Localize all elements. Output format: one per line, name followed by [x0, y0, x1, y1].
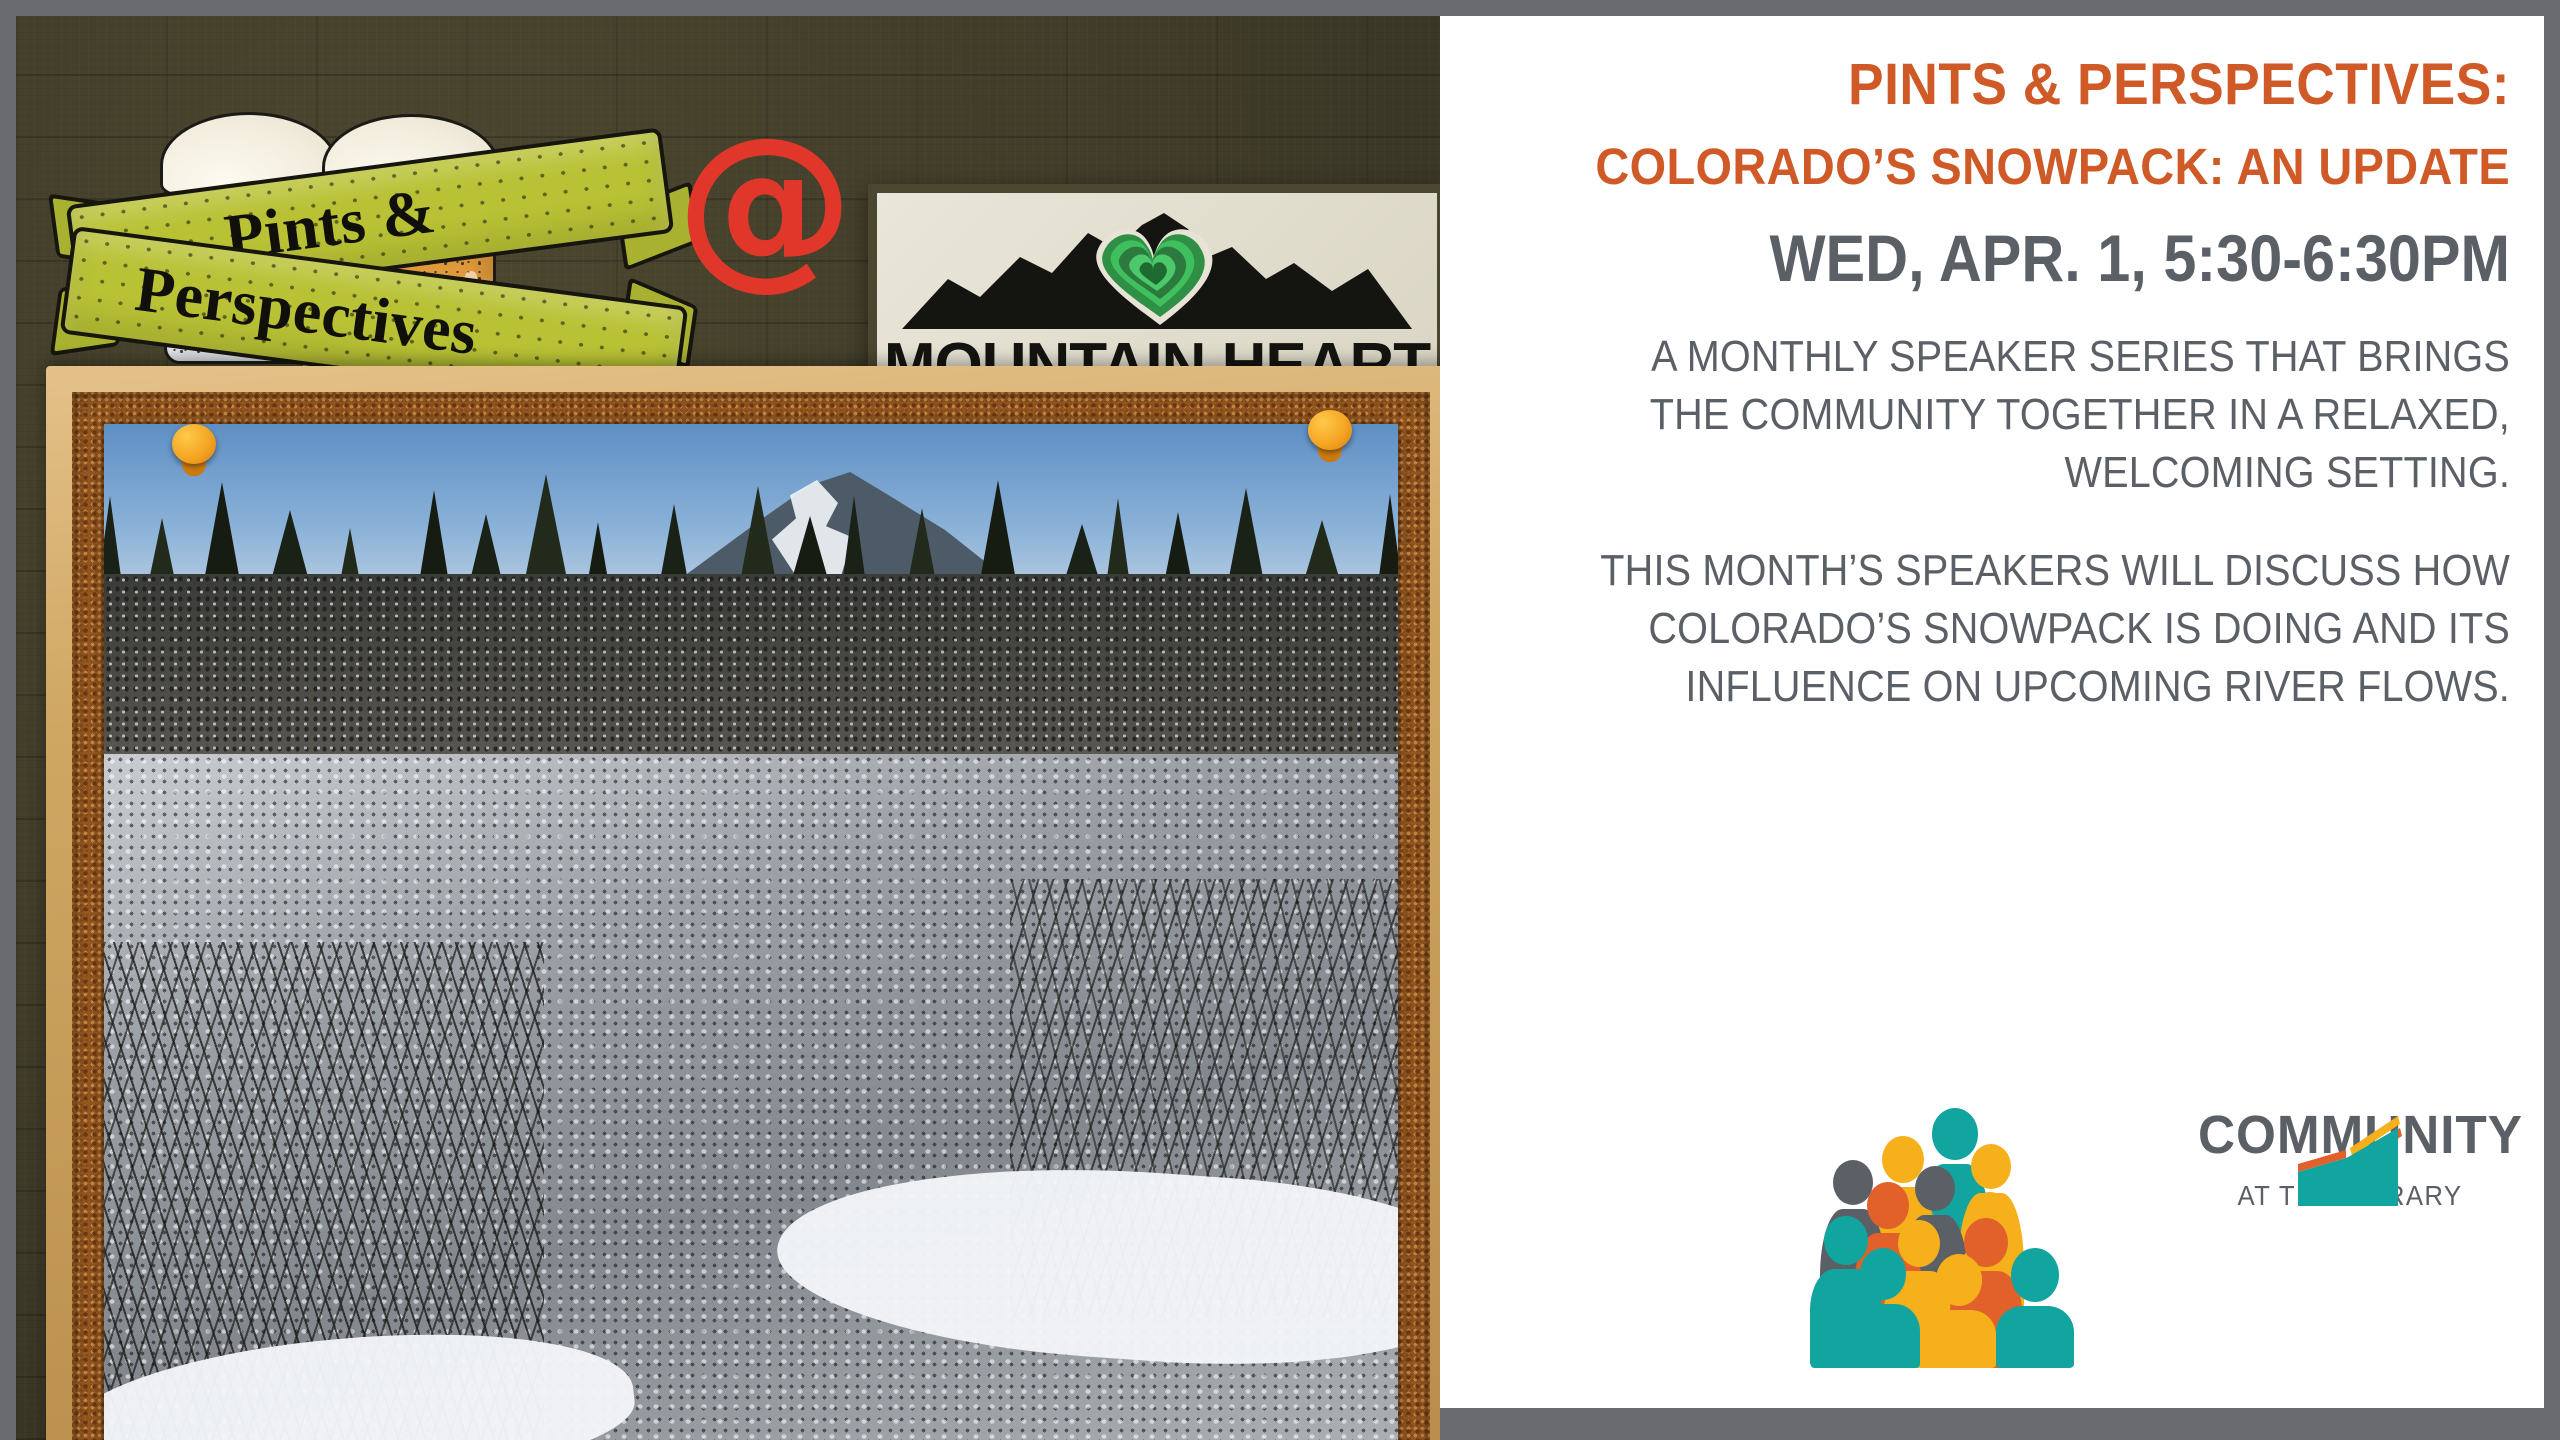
person-icon: [1846, 1248, 1920, 1368]
pushpin-icon: [1308, 410, 1352, 462]
event-description-1: A MONTHLY SPEAKER SERIES THAT BRINGS THE…: [1583, 328, 2510, 502]
event-poster: Pints & Perspectives @: [0, 0, 2560, 1440]
snowy-creek-photo: []: [104, 424, 1398, 1440]
library-logo-text: COMMUNITY AT THE LIBRARY: [2190, 1104, 2510, 1212]
event-details-panel: PINTS & PERSPECTIVES: COLORADO’S SNOWPAC…: [1440, 16, 2544, 1408]
event-datetime: WED, APR. 1, 5:30-6:30PM: [1583, 222, 2510, 294]
mountain-heart-logo-icon: [902, 205, 1412, 329]
corkboard-frame: []: [46, 366, 1440, 1440]
pints-and-perspectives-logo: Pints & Perspectives: [64, 74, 674, 364]
corkboard-surface: []: [72, 392, 1430, 1440]
open-book-icon: [2294, 1106, 2404, 1210]
community-at-the-library-logo: COMMUNITY AT THE LIBRARY: [1810, 1098, 2510, 1368]
left-image-panel: Pints & Perspectives @: [16, 16, 1440, 1440]
at-symbol-icon: @: [676, 128, 836, 288]
person-icon: [1996, 1248, 2074, 1368]
event-title: PINTS & PERSPECTIVES:: [1562, 54, 2510, 116]
event-subtitle: COLORADO’S SNOWPACK: AN UPDATE: [1562, 138, 2510, 196]
pushpin-icon: [172, 424, 216, 476]
icy-creek: [104, 754, 1398, 1440]
people-crowd-icon: [1810, 1108, 2170, 1368]
event-description-2: THIS MONTH’S SPEAKERS WILL DISCUSS HOW C…: [1583, 542, 2510, 716]
person-icon: [1922, 1254, 1996, 1368]
